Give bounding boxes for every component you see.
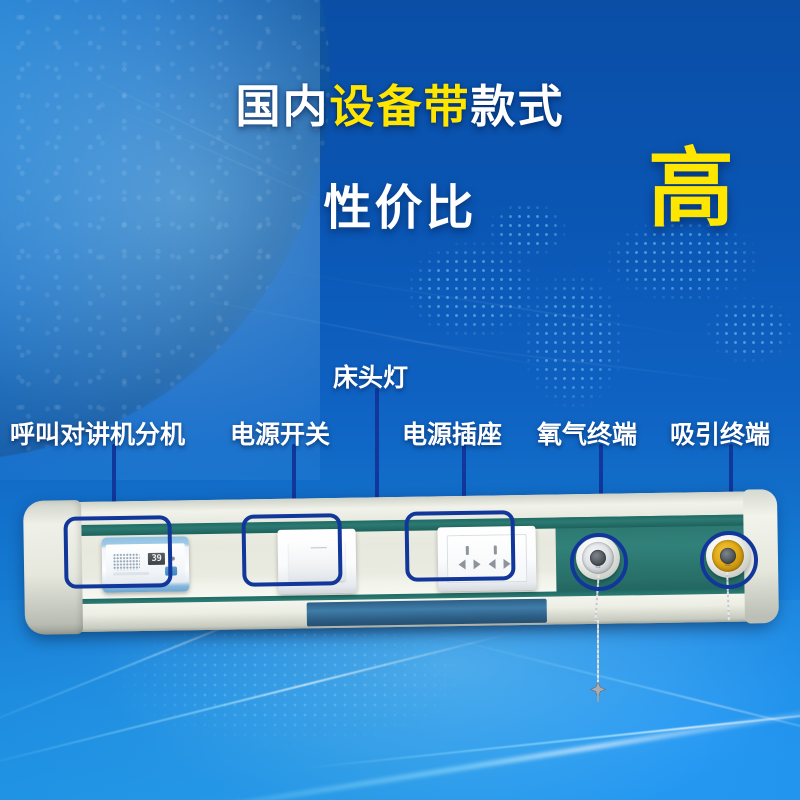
headline-segment-1: 国内 [235, 80, 329, 133]
socket-faceplate [447, 534, 528, 583]
power-socket[interactable] [437, 526, 536, 592]
intercom-device[interactable]: 39 [102, 536, 190, 592]
socket-pin-icon [503, 559, 510, 569]
intercom-display: 39 [148, 553, 165, 565]
switch-rocker[interactable] [289, 541, 346, 582]
callout-label-socket: 电源插座 [402, 415, 502, 451]
socket-pin-icon [458, 559, 465, 569]
intercom-slot [113, 572, 149, 576]
socket-pin-icon [473, 559, 480, 569]
gas-connector-hook-icon [589, 682, 607, 704]
socket-pin-icon [494, 545, 497, 554]
callout-label-oxygen: 氧气终端 [537, 415, 637, 451]
panel-blue-strip [307, 599, 547, 627]
callout-label-switch: 电源开关 [230, 415, 330, 451]
intercom-faceplate: 39 [106, 543, 186, 583]
headline-big-char: 高 [648, 146, 734, 232]
poster-canvas: 国内设备带款式 性价比 高 呼叫对讲机分机 电源开关 床头灯 电源插座 氧气终端… [0, 0, 800, 800]
callout-label-suction: 吸引终端 [670, 415, 770, 451]
callout-label-bedlamp: 床头灯 [333, 358, 408, 394]
hook-cord [597, 620, 599, 686]
headline: 国内设备带款式 [0, 84, 800, 129]
socket-pin-icon [488, 559, 495, 569]
intercom-led-icon [171, 557, 175, 561]
speaker-grille-icon [113, 553, 140, 570]
medical-bed-head-unit: 39 O2 [25, 491, 775, 633]
callout-label-intercom: 呼叫对讲机分机 [10, 415, 185, 451]
switch-marking [311, 547, 327, 548]
socket-pin-icon [466, 546, 469, 555]
intercom-call-button[interactable] [165, 567, 177, 576]
power-switch[interactable] [277, 529, 356, 594]
panel-end-cap-left [23, 500, 83, 635]
headline-segment-2: 设备带 [329, 80, 470, 133]
headline-segment-3: 款式 [471, 80, 565, 133]
